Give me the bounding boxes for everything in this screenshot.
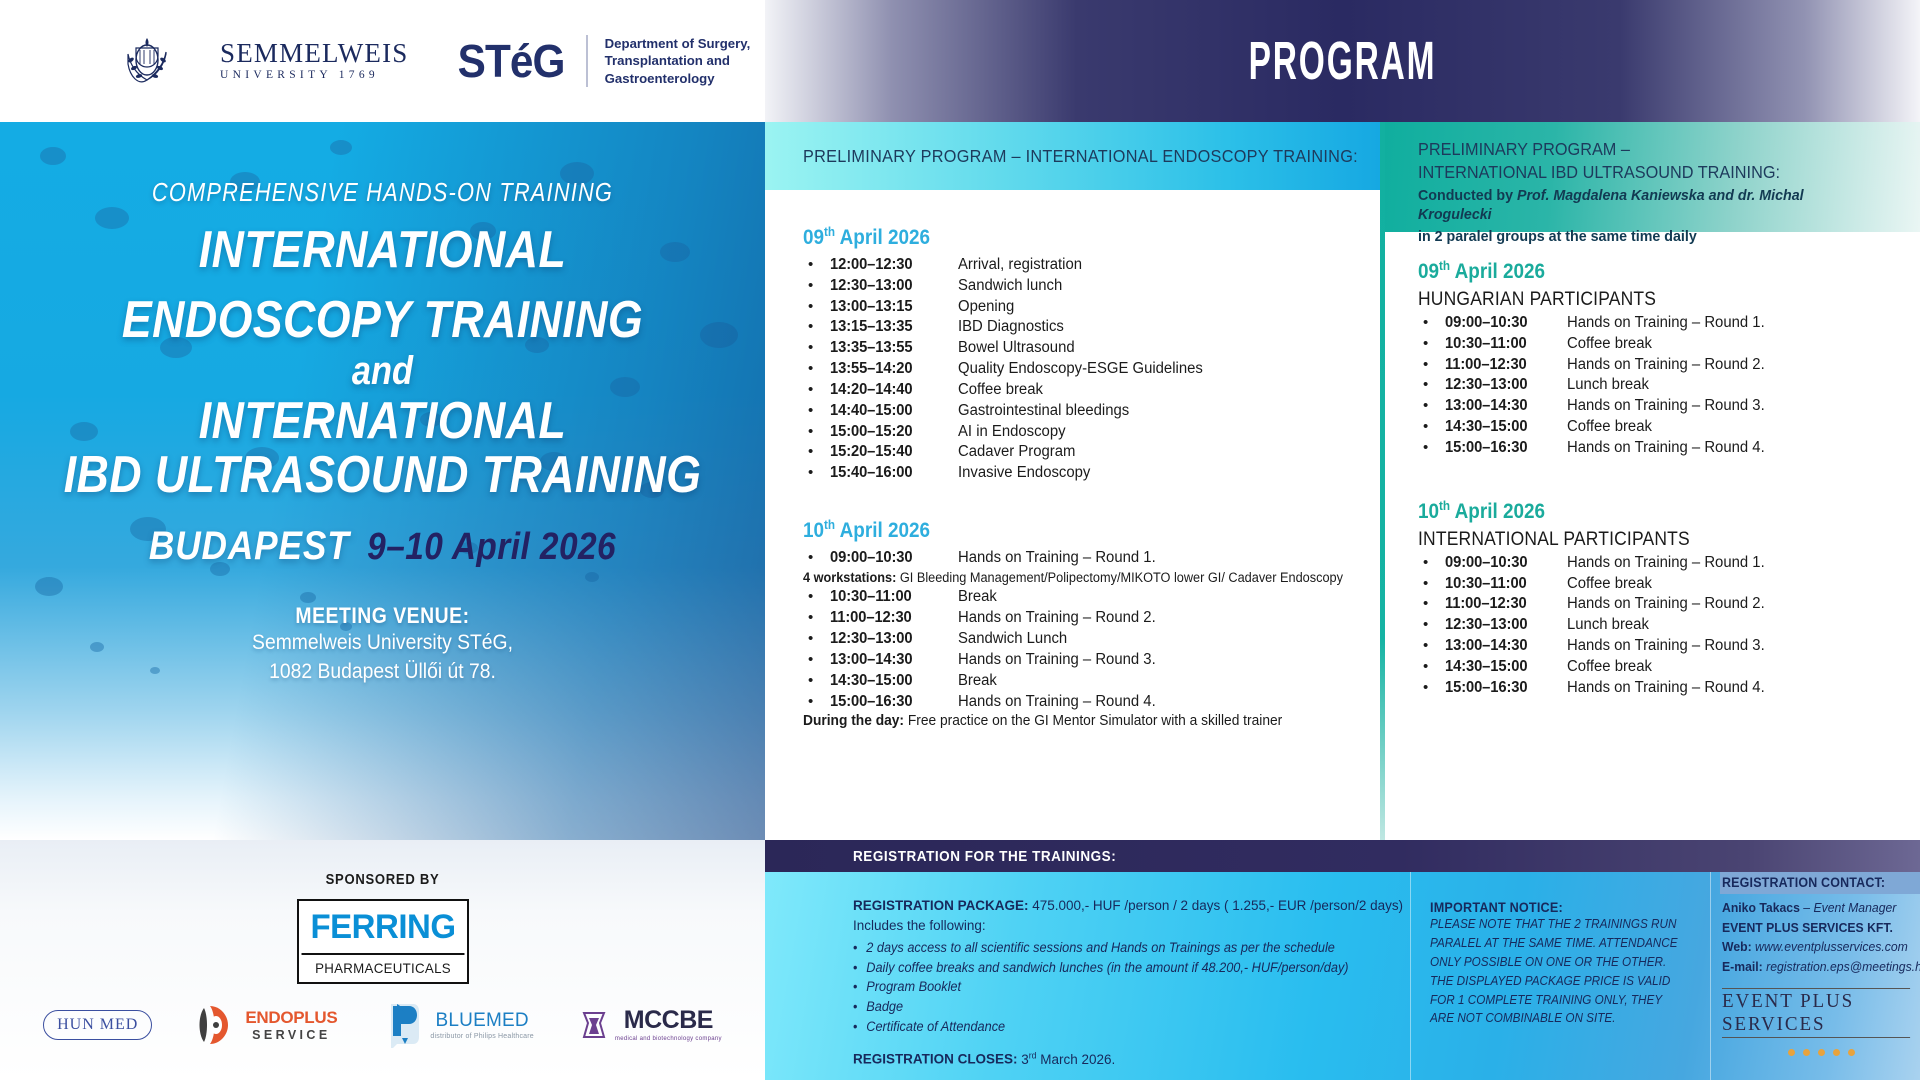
endoscopy-program-column: PRELIMINARY PROGRAM – INTERNATIONAL ENDO…: [765, 122, 1380, 840]
schedule-row: 13:00–14:30Hands on Training – Round 3.: [803, 650, 1358, 670]
schedule-row: 11:00–12:30Hands on Training – Round 2.: [1418, 594, 1902, 614]
schedule-time: 14:40–15:00: [830, 401, 952, 421]
schedule-time: 12:30–13:00: [1445, 375, 1561, 395]
schedule-row: 11:00–12:30Hands on Training – Round 2.: [803, 608, 1358, 628]
sponsors-panel: SPONSORED BY FERRING PHARMACEUTICALS HUN…: [0, 840, 765, 1080]
venue-line-2: 1082 Budapest Üllői út 78.: [31, 658, 735, 686]
schedule-event: Sandwich lunch: [958, 276, 1062, 296]
registration-panel: REGISTRATION FOR THE TRAININGS: REGISTRA…: [765, 840, 1920, 1080]
schedule-time: 15:00–16:30: [1445, 678, 1561, 698]
schedule-event: Bowel Ultrasound: [958, 338, 1075, 358]
notice-line: ARE NOT COMBINABLE ON SITE.: [1430, 1009, 1663, 1028]
ultrasound-program-column: PRELIMINARY PROGRAM – INTERNATIONAL IBD …: [1380, 122, 1920, 840]
contact-title: REGISTRATION CONTACT:: [1722, 875, 1885, 890]
ultrasound-header-line1: PRELIMINARY PROGRAM –: [1418, 138, 1866, 161]
schedule-event: Hands on Training – Round 2.: [1567, 594, 1765, 614]
notice-line: PARALEL AT THE SAME TIME. ATTENDANCE: [1430, 934, 1663, 953]
hero-content: COMPREHENSIVE HANDS-ON TRAINING INTERNAT…: [0, 122, 765, 686]
schedule-event: Hands on Training – Round 1.: [958, 548, 1156, 568]
mccbe-logo: MCCBE medical and biotechnology company: [580, 1008, 722, 1042]
bluemed-wordmark: BLUEMED distributor of Philips Healthcar…: [430, 1011, 533, 1040]
ultrasound-header-line2: INTERNATIONAL IBD ULTRASOUND TRAINING:: [1418, 161, 1866, 184]
schedule-time: 13:00–14:30: [1445, 396, 1561, 416]
ultrasound-body: 09th April 2026 HUNGARIAN PARTICIPANTS 0…: [1380, 232, 1920, 698]
schedule-time: 09:00–10:30: [830, 548, 952, 568]
university-name: SEMMELWEIS: [220, 40, 409, 67]
column-accent-edge: [1380, 122, 1385, 840]
include-item: Program Booklet: [853, 977, 1366, 997]
notice-title: IMPORTANT NOTICE:: [1430, 900, 1663, 915]
schedule-row: 10:30–11:00Break: [803, 587, 1358, 607]
notice-line: THE DISPLAYED PACKAGE PRICE IS VALID: [1430, 972, 1663, 991]
bluemed-sub: distributor of Philips Healthcare: [430, 1033, 533, 1040]
department-name: Department of Surgery, Transplantation a…: [605, 35, 751, 88]
workstations-note: 4 workstations: GI Bleeding Management/P…: [803, 569, 1330, 586]
schedule-time: 15:00–16:30: [830, 692, 952, 712]
top-bar: SEMMELWEIS UNIVERSITY 1769 STéG Departme…: [0, 0, 1920, 122]
schedule-row: 14:30–15:00Coffee break: [1418, 417, 1902, 437]
schedule-row: 13:00–13:15Opening: [803, 297, 1358, 317]
schedule-time: 14:20–14:40: [830, 380, 952, 400]
registration-package-block: REGISTRATION PACKAGE: 475.000,- HUF /per…: [853, 896, 1393, 1068]
schedule-event: Hands on Training – Round 4.: [1567, 438, 1765, 458]
schedule-event: Coffee break: [1567, 657, 1652, 677]
schedule-row: 12:00–12:30Arrival, registration: [803, 255, 1358, 275]
schedule-event: IBD Diagnostics: [958, 317, 1064, 337]
endoplus-wordmark: ENDOPLUS SERVICE: [245, 1009, 337, 1042]
endoscopy-header-text: PRELIMINARY PROGRAM – INTERNATIONAL ENDO…: [803, 146, 1358, 167]
schedule-event: Invasive Endoscopy: [958, 463, 1090, 483]
registration-body: REGISTRATION PACKAGE: 475.000,- HUF /per…: [765, 872, 1920, 1080]
divider: [586, 35, 588, 87]
includes-label: Includes the following:: [853, 916, 1366, 936]
during-day-note: During the day: Free practice on the GI …: [803, 712, 1330, 731]
page-title: PROGRAM: [1249, 30, 1437, 92]
registration-bar: REGISTRATION FOR THE TRAININGS:: [765, 840, 1920, 872]
mccbe-wordmark: MCCBE medical and biotechnology company: [615, 1008, 722, 1042]
schedule-row: 15:40–16:00Invasive Endoscopy: [803, 463, 1358, 483]
hunmed-label: HUN MED: [57, 1016, 138, 1033]
schedule-event: Opening: [958, 297, 1014, 317]
ferring-logo: FERRING PHARMACEUTICALS: [297, 899, 469, 984]
sponsored-by-label: SPONSORED BY: [38, 872, 727, 888]
university-wordmark: SEMMELWEIS UNIVERSITY 1769: [220, 40, 409, 82]
university-subtitle: UNIVERSITY 1769: [220, 70, 409, 82]
schedule-row: 10:30–11:00Coffee break: [1418, 574, 1902, 594]
mccbe-name: MCCBE: [615, 1008, 722, 1033]
hero-conjunction: and: [54, 347, 712, 395]
schedule-time: 14:30–15:00: [1445, 417, 1561, 437]
schedule-row: 12:30–13:00Lunch break: [1418, 375, 1902, 395]
schedule-time: 14:30–15:00: [830, 671, 952, 691]
notice-line: ONLY POSSIBLE ON ONE OR THE OTHER.: [1430, 953, 1663, 972]
schedule-row: 15:00–15:20AI in Endoscopy: [803, 422, 1358, 442]
schedule-time: 12:30–13:00: [830, 276, 952, 296]
schedule-row: 13:55–14:20Quality Endoscopy-ESGE Guidel…: [803, 359, 1358, 379]
venue-line-1: Semmelweis University STéG,: [31, 629, 735, 657]
eps-wordmark: EVENT PLUS SERVICES: [1722, 988, 1910, 1038]
schedule-time: 12:00–12:30: [830, 255, 952, 275]
schedule-time: 10:30–11:00: [1445, 574, 1561, 594]
schedule-time: 13:00–14:30: [1445, 636, 1561, 656]
schedule-event: Arrival, registration: [958, 255, 1082, 275]
registration-bar-title: REGISTRATION FOR THE TRAININGS:: [853, 848, 1116, 865]
hunmed-wordmark: HUN MED: [43, 1010, 152, 1040]
schedule-event: Coffee break: [1567, 574, 1652, 594]
include-item: Certificate of Attendance: [853, 1017, 1366, 1037]
schedule-event: Hands on Training – Round 4.: [958, 692, 1156, 712]
hero-title-line3: INTERNATIONAL: [54, 395, 712, 449]
schedule-event: Break: [958, 587, 997, 607]
schedule-row: 13:00–14:30Hands on Training – Round 3.: [1418, 636, 1902, 656]
sponsor-logo-row: HUN MED ENDOPLUS SERVICE: [0, 1002, 765, 1048]
contact-details: Aniko Takacs – Event Manager EVENT PLUS …: [1720, 894, 1920, 1061]
ultrasound-day1-group: HUNGARIAN PARTICIPANTS: [1418, 289, 1863, 311]
include-item: 2 days access to all scientific sessions…: [853, 938, 1366, 958]
schedule-time: 15:40–16:00: [830, 463, 952, 483]
schedule-event: Lunch break: [1567, 615, 1649, 635]
schedule-time: 13:35–13:55: [830, 338, 952, 358]
hero-dates: 9–10 April 2026: [367, 526, 616, 569]
schedule-row: 09:00–10:30Hands on Training – Round 1.: [803, 548, 1358, 568]
schedule-row: 13:35–13:55Bowel Ultrasound: [803, 338, 1358, 358]
schedule-time: 15:00–15:20: [830, 422, 952, 442]
schedule-row: 09:00–10:30Hands on Training – Round 1.: [1418, 313, 1902, 333]
include-item: Badge: [853, 997, 1366, 1017]
endoscopy-header-band: PRELIMINARY PROGRAM – INTERNATIONAL ENDO…: [765, 122, 1380, 190]
schedule-time: 15:20–15:40: [830, 442, 952, 462]
endoscopy-day2-label: 10th April 2026: [803, 517, 1303, 543]
hero-city-date: BUDAPEST 9–10 April 2026: [46, 524, 719, 569]
schedule-row: 12:30–13:00Sandwich Lunch: [803, 629, 1358, 649]
schedule-row: 15:00–16:30Hands on Training – Round 4.: [1418, 438, 1902, 458]
schedule-time: 13:15–13:35: [830, 317, 952, 337]
endoscopy-body: 09th April 2026 12:00–12:30Arrival, regi…: [765, 190, 1380, 731]
ultrasound-conducted-by: Conducted by Prof. Magdalena Kaniewska a…: [1418, 186, 1876, 225]
schedule-event: Hands on Training – Round 1.: [1567, 553, 1765, 573]
schedule-row: 13:00–14:30Hands on Training – Round 3.: [1418, 396, 1902, 416]
schedule-event: Quality Endoscopy-ESGE Guidelines: [958, 359, 1203, 379]
schedule-time: 13:55–14:20: [830, 359, 952, 379]
schedule-row: 12:30–13:00Lunch break: [1418, 615, 1902, 635]
schedule-row: 09:00–10:30Hands on Training – Round 1.: [1418, 553, 1902, 573]
schedule-row: 14:30–15:00Break: [803, 671, 1358, 691]
endoplus-mark-icon: [198, 1004, 238, 1046]
schedule-event: Coffee break: [1567, 334, 1652, 354]
schedule-time: 09:00–10:30: [1445, 313, 1561, 333]
schedule-row: 15:00–16:30Hands on Training – Round 4.: [803, 692, 1358, 712]
schedule-time: 10:30–11:00: [1445, 334, 1561, 354]
schedule-time: 12:30–13:00: [1445, 615, 1561, 635]
schedule-time: 15:00–16:30: [1445, 438, 1561, 458]
hero-title-line1: INTERNATIONAL: [54, 224, 712, 278]
schedule-event: Hands on Training – Round 3.: [1567, 636, 1765, 656]
schedule-row: 15:20–15:40Cadaver Program: [803, 442, 1358, 462]
ultrasound-day2-list: 09:00–10:30Hands on Training – Round 1.1…: [1418, 553, 1902, 698]
schedule-time: 12:30–13:00: [830, 629, 952, 649]
hero-panel: COMPREHENSIVE HANDS-ON TRAINING INTERNAT…: [0, 122, 765, 840]
schedule-time: 10:30–11:00: [830, 587, 952, 607]
schedule-row: 12:30–13:00Sandwich lunch: [803, 276, 1358, 296]
endoscopy-day1-label: 09th April 2026: [803, 224, 1303, 250]
schedule-row: 14:20–14:40Coffee break: [803, 380, 1358, 400]
bluemed-mark-icon: [383, 1002, 423, 1048]
semmelweis-crest-icon: [118, 30, 176, 92]
ferring-name: FERRING: [301, 901, 464, 955]
program-poster: SEMMELWEIS UNIVERSITY 1769 STéG Departme…: [0, 0, 1920, 1080]
schedule-event: Hands on Training – Round 3.: [958, 650, 1156, 670]
ultrasound-header-band: PRELIMINARY PROGRAM – INTERNATIONAL IBD …: [1380, 122, 1920, 232]
schedule-time: 13:00–14:30: [830, 650, 952, 670]
contact-company: EVENT PLUS SERVICES KFT.: [1722, 918, 1908, 938]
steg-logo-block: STéG Department of Surgery, Transplantat…: [453, 34, 751, 88]
contact-person-row: Aniko Takacs – Event Manager: [1722, 898, 1908, 918]
endoplus-name: ENDOPLUS: [245, 1009, 337, 1026]
schedule-event: Hands on Training – Round 4.: [1567, 678, 1765, 698]
contact-email[interactable]: E-mail: registration.eps@meetings.hu: [1722, 957, 1908, 977]
mccbe-sub: medical and biotechnology company: [615, 1036, 722, 1042]
schedule-event: Hands on Training – Round 1.: [1567, 313, 1765, 333]
steg-wordmark: STéG: [457, 34, 564, 88]
logo-bar: SEMMELWEIS UNIVERSITY 1769 STéG Departme…: [0, 0, 765, 122]
schedule-row: 14:30–15:00Coffee break: [1418, 657, 1902, 677]
ultrasound-day1-list: 09:00–10:30Hands on Training – Round 1.1…: [1418, 313, 1902, 458]
schedule-time: 09:00–10:30: [1445, 553, 1561, 573]
contact-web[interactable]: Web: www.eventplusservices.com: [1722, 937, 1908, 957]
footer: SPONSORED BY FERRING PHARMACEUTICALS HUN…: [0, 840, 1920, 1080]
ferring-subtitle: PHARMACEUTICALS: [303, 955, 463, 982]
ultrasound-day1-label: 09th April 2026: [1418, 258, 1854, 284]
venue-heading: MEETING VENUE:: [46, 603, 719, 629]
ultrasound-day2-label: 10th April 2026: [1418, 498, 1854, 524]
schedule-event: Break: [958, 671, 997, 691]
mccbe-mark-icon: [580, 1009, 608, 1041]
ultrasound-groups-note: in 2 paralel groups at the same time dai…: [1418, 227, 1876, 247]
bluemed-name: BLUEMED: [430, 1011, 533, 1030]
schedule-time: 13:00–13:15: [830, 297, 952, 317]
program-header-band: PROGRAM: [765, 0, 1920, 122]
endoscopy-day1-list: 12:00–12:30Arrival, registration12:30–13…: [803, 255, 1358, 483]
schedule-event: Sandwich Lunch: [958, 629, 1067, 649]
eps-dots-decoration: [1722, 1043, 1920, 1061]
schedule-row: 15:00–16:30Hands on Training – Round 4.: [1418, 678, 1902, 698]
endoplus-sub: SERVICE: [245, 1029, 337, 1042]
endoscopy-day2-first-item: 09:00–10:30Hands on Training – Round 1.: [803, 548, 1358, 568]
ultrasound-day2-group: INTERNATIONAL PARTICIPANTS: [1418, 529, 1863, 551]
hero-kicker: COMPREHENSIVE HANDS-ON TRAINING: [61, 177, 704, 208]
schedule-row: 11:00–12:30Hands on Training – Round 2.: [1418, 355, 1902, 375]
notice-lines: PLEASE NOTE THAT THE 2 TRAININGS RUNPARA…: [1430, 915, 1680, 1028]
hero-title-line4: IBD ULTRASOUND TRAINING: [54, 449, 712, 503]
endoplus-logo: ENDOPLUS SERVICE: [198, 1004, 337, 1046]
bluemed-logo: BLUEMED distributor of Philips Healthcar…: [383, 1002, 533, 1048]
schedule-event: Cadaver Program: [958, 442, 1075, 462]
schedule-row: 10:30–11:00Coffee break: [1418, 334, 1902, 354]
notice-line: PLEASE NOTE THAT THE 2 TRAININGS RUN: [1430, 915, 1663, 934]
schedule-time: 11:00–12:30: [830, 608, 952, 628]
registration-closes: REGISTRATION CLOSES: 3rd March 2026.: [853, 1050, 1366, 1068]
schedule-event: AI in Endoscopy: [958, 422, 1066, 442]
important-notice-block: IMPORTANT NOTICE: PLEASE NOTE THAT THE 2…: [1430, 900, 1680, 1028]
hunmed-logo: HUN MED: [43, 1010, 152, 1040]
include-item: Daily coffee breaks and sandwich lunches…: [853, 958, 1366, 978]
schedule-event: Coffee break: [1567, 417, 1652, 437]
notice-line: FOR 1 COMPLETE TRAINING ONLY, THEY: [1430, 991, 1663, 1010]
schedule-event: Hands on Training – Round 2.: [958, 608, 1156, 628]
endoscopy-day2-list: 10:30–11:00Break11:00–12:30Hands on Trai…: [803, 587, 1358, 711]
schedule-event: Lunch break: [1567, 375, 1649, 395]
schedule-event: Hands on Training – Round 3.: [1567, 396, 1765, 416]
eps-logo: EVENT PLUS SERVICES: [1722, 988, 1920, 1061]
hero-title-line2: ENDOSCOPY TRAINING: [54, 294, 712, 348]
package-line: REGISTRATION PACKAGE: 475.000,- HUF /per…: [853, 896, 1366, 916]
schedule-event: Hands on Training – Round 2.: [1567, 355, 1765, 375]
contact-block: REGISTRATION CONTACT: Aniko Takacs – Eve…: [1720, 872, 1920, 1080]
schedule-event: Gastrointestinal bleedings: [958, 401, 1129, 421]
schedule-event: Coffee break: [958, 380, 1043, 400]
includes-list: 2 days access to all scientific sessions…: [853, 938, 1393, 1036]
schedule-time: 11:00–12:30: [1445, 594, 1561, 614]
schedule-row: 13:15–13:35IBD Diagnostics: [803, 317, 1358, 337]
schedule-row: 14:40–15:00Gastrointestinal bleedings: [803, 401, 1358, 421]
hero-city: BUDAPEST: [149, 524, 350, 569]
schedule-time: 14:30–15:00: [1445, 657, 1561, 677]
schedule-time: 11:00–12:30: [1445, 355, 1561, 375]
